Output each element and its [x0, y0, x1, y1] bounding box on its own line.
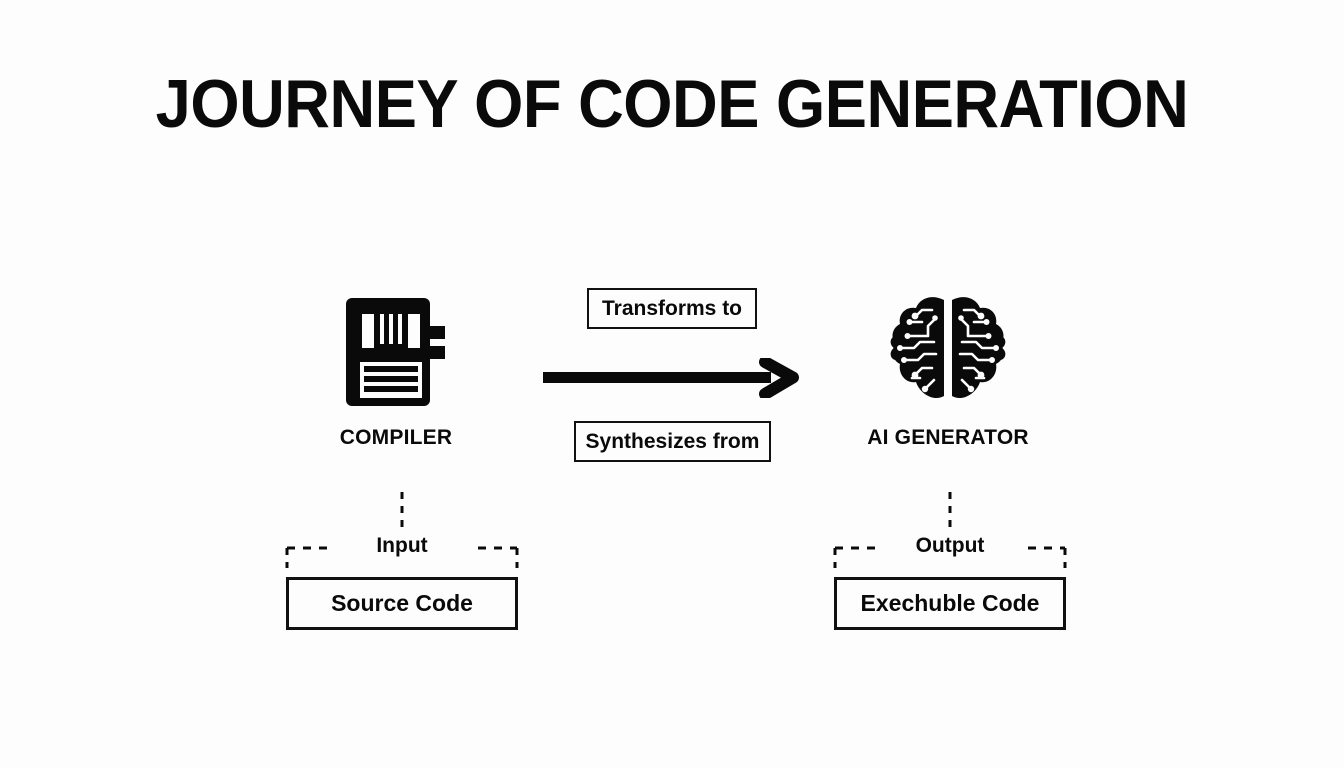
node-label-ai-generator: AI GENERATOR: [798, 424, 1098, 452]
edge-label-synthesizes-from[interactable]: Synthesizes from: [574, 421, 771, 462]
node-label-compiler: COMPILER: [246, 424, 546, 452]
connector-label-input: Input: [332, 534, 472, 558]
terminal-box-source-code[interactable]: Source Code: [286, 577, 518, 630]
flow-arrow-right-icon: [543, 358, 801, 403]
edge-label-transforms-to[interactable]: Transforms to: [587, 288, 757, 329]
diagram-canvas: JOURNEY OF CODE GENERATION COMPILER: [0, 0, 1344, 768]
terminal-box-exechuble-code[interactable]: Exechuble Code: [834, 577, 1066, 630]
ai-brain-circuit-icon: [888, 292, 1008, 413]
compiler-document-chip-icon: [344, 292, 448, 417]
page-title: JOURNEY OF CODE GENERATION: [47, 70, 1297, 138]
connector-label-output: Output: [880, 534, 1020, 558]
